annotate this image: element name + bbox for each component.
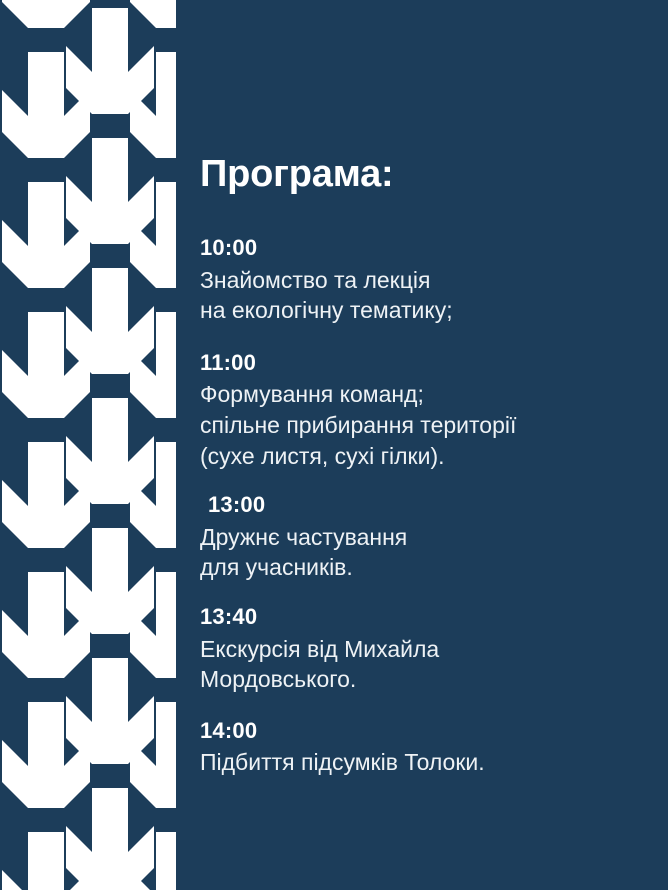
schedule-item-time: 11:00	[200, 351, 668, 376]
schedule-item-time: 13:00	[208, 493, 668, 518]
schedule-item-description: Дружнє частування для учасників.	[200, 522, 668, 583]
schedule-item-description: Формування команд; спільне прибирання те…	[200, 379, 668, 471]
schedule-item-time: 14:00	[200, 719, 668, 744]
schedule-item-description: Екскурсія від Михайла Мордовського.	[200, 634, 668, 695]
arrow-pattern-decoration	[0, 0, 176, 890]
schedule-item: 14:00 Підбиття підсумків Толоки.	[200, 719, 668, 778]
schedule-item: 13:40 Екскурсія від Михайла Мордовського…	[200, 605, 668, 695]
spacer	[200, 583, 668, 605]
schedule-item-time: 13:40	[200, 605, 668, 630]
page-title: Програма:	[200, 155, 394, 193]
spacer	[200, 471, 668, 493]
schedule-list: 10:00 Знайомство та лекція на екологічну…	[200, 236, 668, 778]
program-poster: Програма: 10:00 Знайомство та лекція на …	[0, 0, 668, 890]
content-column: Програма: 10:00 Знайомство та лекція на …	[200, 0, 668, 890]
spacer	[200, 326, 668, 351]
schedule-item: 11:00 Формування команд; спільне прибира…	[200, 351, 668, 471]
schedule-item: 13:00 Дружнє частування для учасників.	[200, 493, 668, 583]
spacer	[200, 695, 668, 719]
schedule-item-time: 10:00	[200, 236, 668, 261]
down-arrow-icon	[0, 0, 176, 890]
schedule-item-description: Знайомство та лекція на екологічну темат…	[200, 265, 668, 326]
schedule-item-description: Підбиття підсумків Толоки.	[200, 747, 668, 778]
schedule-item: 10:00 Знайомство та лекція на екологічну…	[200, 236, 668, 326]
